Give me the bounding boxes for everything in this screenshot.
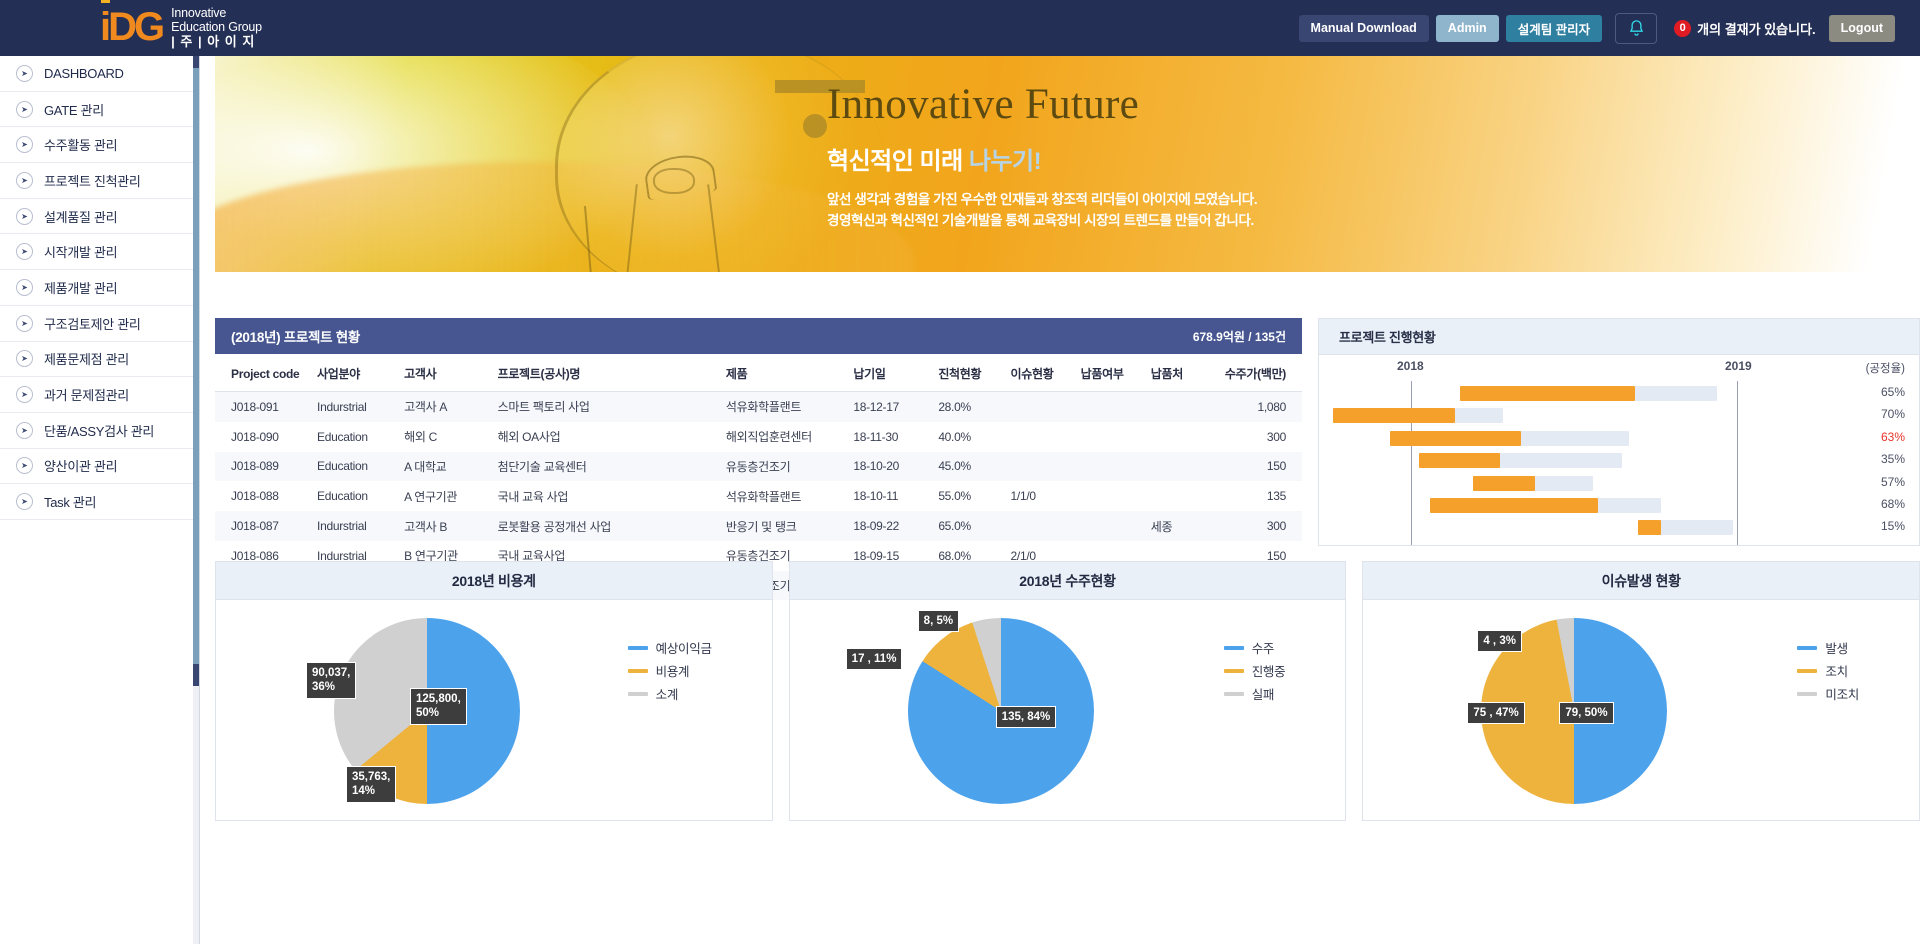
sidebar-item-9[interactable]: ➤과거 문제점관리: [0, 377, 199, 413]
legend-swatch-icon: [1224, 669, 1244, 673]
pie-chart-card-1: 2018년 수주현황135, 84%17 , 11%8, 5%수주진행중실패: [789, 561, 1347, 821]
sidebar-item-label: 시작개발 관리: [44, 242, 117, 261]
project-cell-delivered: [1075, 481, 1145, 511]
gantt-row: 57%: [1319, 473, 1919, 495]
sidebar-item-5[interactable]: ➤시작개발 관리: [0, 234, 199, 270]
project-column-header-1: 사업분야: [311, 354, 398, 392]
project-column-header-7: 이슈현황: [1005, 354, 1075, 392]
project-cell-issue: 1/1/0: [1005, 481, 1075, 511]
project-column-header-9: 납품처: [1145, 354, 1211, 392]
project-column-header-8: 납품여부: [1075, 354, 1145, 392]
chevron-right-icon: ➤: [16, 65, 33, 82]
pie-chart-header: 2018년 수주현황: [790, 562, 1346, 600]
gantt-panel-title: 프로젝트 진행현황: [1339, 327, 1436, 346]
chevron-right-icon: ➤: [16, 172, 33, 189]
header-actions: Manual Download Admin 설계팀 관리자 0 개의 결재가 있…: [1299, 13, 1895, 44]
manual-download-button[interactable]: Manual Download: [1299, 15, 1429, 42]
sidebar-item-6[interactable]: ➤제품개발 관리: [0, 270, 199, 306]
legend-label: 실패: [1252, 684, 1274, 703]
project-column-header-6: 진척현황: [932, 354, 1004, 392]
banner-cap-dot: [803, 114, 827, 138]
sidebar-item-10[interactable]: ➤단품/ASSY검사 관리: [0, 413, 199, 449]
table-row[interactable]: J018-090Education해외 C해외 OA사업해외직업훈련센터18-1…: [215, 422, 1302, 452]
project-panel-header: (2018년) 프로젝트 현황 678.9억원 / 135건: [215, 318, 1302, 354]
project-cell-dest: [1145, 392, 1211, 422]
legend-swatch-icon: [1224, 692, 1244, 696]
table-row[interactable]: J018-089EducationA 대학교첨단기술 교육센터유동층건조기18-…: [215, 452, 1302, 482]
table-row[interactable]: J018-087Indurstrial고객사 B로봇활용 공정개선 사업반응기 …: [215, 511, 1302, 541]
project-panel-summary: 678.9억원 / 135건: [1193, 328, 1286, 345]
chevron-right-icon: ➤: [16, 493, 33, 510]
chevron-right-icon: ➤: [16, 422, 33, 439]
pie-chart-body: 135, 84%17 , 11%8, 5%수주진행중실패: [790, 600, 1346, 820]
chevron-right-icon: ➤: [16, 457, 33, 474]
banner-description: 앞선 생각과 경험을 가진 우수한 인재들과 창조적 리더들이 아이지에 모였습…: [827, 190, 1257, 232]
gantt-row: 65%: [1319, 383, 1919, 405]
logo-line-1: Innovative: [171, 6, 262, 20]
chevron-right-icon: ➤: [16, 243, 33, 260]
gantt-progress-fill: [1460, 386, 1635, 401]
project-cell-price: 300: [1211, 422, 1302, 452]
notification-summary: 0 개의 결재가 있습니다.: [1674, 19, 1815, 38]
gantt-progress-fill: [1390, 431, 1522, 446]
legend-item: 미조치: [1797, 684, 1859, 703]
pie-chart-card-2: 이슈발생 현황79, 50%75 , 47%4 , 3%발생조치미조치: [1362, 561, 1920, 821]
gantt-progress-fill: [1430, 498, 1598, 513]
legend-item: 조치: [1797, 661, 1859, 680]
notification-message: 개의 결재가 있습니다.: [1697, 19, 1815, 38]
logo-line-3: | 주 | 아 이 지: [171, 35, 262, 50]
project-cell-product: 석유화학플랜트: [720, 481, 847, 511]
legend-swatch-icon: [628, 692, 648, 696]
sidebar-item-label: 과거 문제점관리: [44, 385, 129, 404]
project-cell-delivered: [1075, 392, 1145, 422]
project-cell-issue: [1005, 392, 1075, 422]
project-cell-progress: 40.0%: [932, 422, 1004, 452]
project-cell-price: 135: [1211, 481, 1302, 511]
table-row[interactable]: J018-088EducationA 연구기관국내 교육 사업석유화학플랜트18…: [215, 481, 1302, 511]
legend-label: 발생: [1825, 638, 1847, 657]
brand-logo[interactable]: iDG Innovative Education Group | 주 | 아 이…: [100, 0, 262, 56]
gantt-axis-tick-2018: 2018: [1397, 359, 1424, 373]
sidebar-scrollbar-track[interactable]: [193, 56, 199, 944]
project-cell-field: Education: [311, 422, 398, 452]
gantt-progress-fill: [1638, 520, 1661, 535]
sidebar-item-8[interactable]: ➤제품문제점 관리: [0, 342, 199, 378]
gantt-panel-header: 프로젝트 진행현황: [1319, 319, 1919, 355]
pie-legend: 발생조치미조치: [1797, 638, 1859, 703]
project-cell-project: 스마트 팩토리 사업: [492, 392, 720, 422]
sidebar-item-label: 제품개발 관리: [44, 278, 117, 297]
gantt-axis-tick-2019: 2019: [1725, 359, 1752, 373]
project-status-panel: (2018년) 프로젝트 현황 678.9억원 / 135건 Project c…: [215, 318, 1302, 546]
sidebar-item-label: DASHBOARD: [44, 66, 124, 81]
gantt-progress-label: 63%: [1881, 430, 1905, 444]
legend-item: 비용계: [628, 661, 712, 680]
project-cell-due: 18-11-30: [847, 422, 932, 452]
gantt-progress-label: 70%: [1881, 407, 1905, 421]
project-cell-code: J018-091: [215, 392, 311, 422]
chevron-right-icon: ➤: [16, 386, 33, 403]
logo-letter-i: i: [100, 5, 108, 49]
project-column-header-4: 제품: [720, 354, 847, 392]
sidebar-item-11[interactable]: ➤양산이관 관리: [0, 449, 199, 485]
sidebar-nav: ➤DASHBOARD➤GATE 관리➤수주활동 관리➤프로젝트 진척관리➤설계품…: [0, 56, 200, 944]
pie-slice-label: 125,800, 50%: [410, 688, 467, 725]
legend-label: 수주: [1252, 638, 1274, 657]
legend-swatch-icon: [628, 669, 648, 673]
legend-item: 진행중: [1224, 661, 1286, 680]
project-cell-code: J018-088: [215, 481, 311, 511]
legend-label: 조치: [1825, 661, 1847, 680]
project-cell-code: J018-089: [215, 452, 311, 482]
pie-legend: 수주진행중실패: [1224, 638, 1286, 703]
gantt-row: 68%: [1319, 495, 1919, 517]
project-column-header-10: 수주가(백만): [1211, 354, 1302, 392]
gantt-unit-label: (공정율): [1866, 360, 1905, 376]
pie-wrap: 79, 50%75 , 47%4 , 3%: [1481, 618, 1667, 804]
chevron-right-icon: ➤: [16, 350, 33, 367]
project-cell-issue: [1005, 452, 1075, 482]
project-cell-project: 로봇활용 공정개선 사업: [492, 511, 720, 541]
gantt-row: 15%: [1319, 517, 1919, 539]
project-cell-project: 국내 교육 사업: [492, 481, 720, 511]
project-cell-price: 300: [1211, 511, 1302, 541]
sidebar-item-label: 단품/ASSY검사 관리: [44, 421, 154, 440]
sidebar-item-7[interactable]: ➤구조검토제안 관리: [0, 306, 199, 342]
project-cell-dest: [1145, 422, 1211, 452]
project-cell-customer: A 연구기관: [398, 481, 491, 511]
legend-swatch-icon: [1797, 669, 1817, 673]
project-column-header-2: 고객사: [398, 354, 491, 392]
pie-slice-label: 79, 50%: [1559, 702, 1613, 724]
pie-wrap: 135, 84%17 , 11%8, 5%: [908, 618, 1094, 804]
legend-label: 예상이익금: [656, 638, 712, 657]
dashboard-row-charts: 2018년 비용계125,800, 50%35,763, 14%90,037, …: [215, 561, 1920, 821]
banner-title: Innovative Future: [827, 80, 1257, 129]
project-cell-customer: 해외 C: [398, 422, 491, 452]
legend-item: 실패: [1224, 684, 1286, 703]
project-cell-delivered: [1075, 511, 1145, 541]
legend-swatch-icon: [1797, 646, 1817, 650]
bell-icon: [1627, 18, 1646, 38]
pie-chart-title: 이슈발생 현황: [1602, 571, 1681, 591]
pie-slice-label: 90,037, 36%: [306, 662, 356, 699]
project-cell-field: Education: [311, 481, 398, 511]
sidebar-item-3[interactable]: ➤프로젝트 진척관리: [0, 163, 199, 199]
project-cell-field: Education: [311, 452, 398, 482]
project-cell-project: 첨단기술 교육센터: [492, 452, 720, 482]
project-cell-customer: A 대학교: [398, 452, 491, 482]
sidebar-item-label: GATE 관리: [44, 100, 104, 119]
chevron-right-icon: ➤: [16, 315, 33, 332]
chevron-right-icon: ➤: [16, 136, 33, 153]
project-cell-due: 18-10-11: [847, 481, 932, 511]
project-cell-progress: 45.0%: [932, 452, 1004, 482]
project-cell-code: J018-087: [215, 511, 311, 541]
project-cell-dest: [1145, 452, 1211, 482]
design-team-manager-button[interactable]: 설계팀 관리자: [1506, 15, 1602, 42]
project-cell-product: 반응기 및 탱크: [720, 511, 847, 541]
project-cell-product: 해외직업훈련센터: [720, 422, 847, 452]
project-cell-due: 18-09-22: [847, 511, 932, 541]
project-cell-field: Indurstrial: [311, 511, 398, 541]
project-table-header-row: Project code사업분야고객사프로젝트(공사)명제품납기일진척현황이슈현…: [215, 354, 1302, 392]
project-cell-project: 해외 OA사업: [492, 422, 720, 452]
banner-subtitle: 혁신적인 미래 나누기!: [827, 141, 1257, 176]
pie-chart-body: 79, 50%75 , 47%4 , 3%발생조치미조치: [1363, 600, 1919, 820]
sidebar-item-list: ➤DASHBOARD➤GATE 관리➤수주활동 관리➤프로젝트 진척관리➤설계품…: [0, 56, 199, 520]
project-cell-issue: [1005, 511, 1075, 541]
table-row[interactable]: J018-091Indurstrial고객사 A스마트 팩토리 사업석유화학플랜…: [215, 392, 1302, 422]
pie-chart-body: 125,800, 50%35,763, 14%90,037, 36%예상이익금비…: [216, 600, 772, 820]
banner-subtitle-main: 혁신적인 미래: [827, 148, 969, 175]
notification-bell-button[interactable]: [1615, 13, 1657, 44]
pie-slice-label: 4 , 3%: [1477, 630, 1522, 652]
project-table-head: Project code사업분야고객사프로젝트(공사)명제품납기일진척현황이슈현…: [215, 354, 1302, 392]
legend-label: 진행중: [1252, 661, 1286, 680]
lightbulb-filament-inner: [653, 168, 695, 194]
project-cell-customer: 고객사 B: [398, 511, 491, 541]
sidebar-item-label: 설계품질 관리: [44, 207, 117, 226]
legend-label: 미조치: [1825, 684, 1859, 703]
sidebar-item-1[interactable]: ➤GATE 관리: [0, 92, 199, 128]
legend-swatch-icon: [628, 646, 648, 650]
pie-chart-header: 2018년 비용계: [216, 562, 772, 600]
sidebar-item-2[interactable]: ➤수주활동 관리: [0, 127, 199, 163]
project-column-header-0: Project code: [215, 354, 311, 392]
project-column-header-5: 납기일: [847, 354, 932, 392]
sidebar-item-label: 제품문제점 관리: [44, 349, 129, 368]
project-cell-dest: 세종: [1145, 511, 1211, 541]
project-cell-due: 18-10-20: [847, 452, 932, 482]
project-cell-customer: 고객사 A: [398, 392, 491, 422]
notification-count-badge: 0: [1674, 20, 1691, 37]
dashboard-row-top: (2018년) 프로젝트 현황 678.9억원 / 135건 Project c…: [215, 318, 1920, 546]
pie-legend: 예상이익금비용계소계: [628, 638, 712, 703]
sidebar-item-label: 수주활동 관리: [44, 135, 117, 154]
banner-subtitle-highlight: 나누기!: [969, 148, 1041, 175]
pie-slice-label: 17 , 11%: [846, 648, 903, 670]
hero-banner: Innovative Future 혁신적인 미래 나누기! 앞선 생각과 경험…: [215, 56, 1920, 272]
project-cell-issue: [1005, 422, 1075, 452]
legend-label: 소계: [656, 684, 678, 703]
legend-item: 예상이익금: [628, 638, 712, 657]
project-cell-field: Indurstrial: [311, 392, 398, 422]
top-header: iDG Innovative Education Group | 주 | 아 이…: [0, 0, 1920, 56]
gantt-chart: 2018 2019 (공정율) 65%70%63%35%57%68%15%: [1319, 355, 1919, 545]
gantt-row: 70%: [1319, 405, 1919, 427]
chevron-right-icon: ➤: [16, 208, 33, 225]
banner-desc-line-2: 경영혁신과 혁신적인 기술개발을 통해 교육장비 시장의 트렌드를 만들어 갑니…: [827, 211, 1257, 232]
project-cell-code: J018-090: [215, 422, 311, 452]
pie-wrap: 125,800, 50%35,763, 14%90,037, 36%: [334, 618, 520, 804]
pie-slice-label: 35,763, 14%: [346, 766, 396, 803]
pie-chart-title: 2018년 비용계: [452, 571, 536, 591]
project-cell-dest: [1145, 481, 1211, 511]
chevron-right-icon: ➤: [16, 279, 33, 296]
gantt-progress-label: 57%: [1881, 475, 1905, 489]
gantt-progress-label: 65%: [1881, 385, 1905, 399]
pie-slice-label: 75 , 47%: [1467, 702, 1524, 724]
main-content: Innovative Future 혁신적인 미래 나누기! 앞선 생각과 경험…: [200, 56, 1920, 944]
project-panel-title: (2018년) 프로젝트 현황: [231, 326, 360, 346]
sidebar-item-label: 프로젝트 진척관리: [44, 171, 141, 190]
gantt-panel: 프로젝트 진행현황 2018 2019 (공정율) 65%70%63%35%57…: [1318, 318, 1920, 546]
gantt-progress-fill: [1333, 408, 1455, 423]
gantt-progress-label: 68%: [1881, 497, 1905, 511]
logout-button[interactable]: Logout: [1829, 15, 1895, 42]
banner-text-block: Innovative Future 혁신적인 미래 나누기! 앞선 생각과 경험…: [827, 80, 1257, 232]
logo-wordmark: Innovative Education Group | 주 | 아 이 지: [171, 6, 262, 50]
project-cell-due: 18-12-17: [847, 392, 932, 422]
sidebar-item-0[interactable]: ➤DASHBOARD: [0, 56, 199, 92]
project-cell-product: 유동층건조기: [720, 452, 847, 482]
gantt-progress-fill: [1419, 453, 1500, 468]
project-cell-product: 석유화학플랜트: [720, 392, 847, 422]
sidebar-item-label: 양산이관 관리: [44, 456, 117, 475]
legend-swatch-icon: [1224, 646, 1244, 650]
pie-chart-title: 2018년 수주현황: [1019, 571, 1115, 591]
logo-line-2: Education Group: [171, 20, 262, 34]
legend-swatch-icon: [1797, 692, 1817, 696]
pie-chart-card-0: 2018년 비용계125,800, 50%35,763, 14%90,037, …: [215, 561, 773, 821]
gantt-progress-label: 15%: [1881, 519, 1905, 533]
legend-item: 발생: [1797, 638, 1859, 657]
sidebar-item-label: Task 관리: [44, 492, 96, 511]
project-cell-price: 150: [1211, 452, 1302, 482]
project-cell-delivered: [1075, 452, 1145, 482]
pie-slice-label: 135, 84%: [996, 706, 1057, 728]
project-cell-progress: 55.0%: [932, 481, 1004, 511]
chevron-right-icon: ➤: [16, 101, 33, 118]
logo-mark: iDG: [100, 7, 162, 47]
pie-slice-label: 8, 5%: [918, 610, 959, 632]
logo-letters-dg: DG: [108, 5, 162, 49]
project-cell-delivered: [1075, 422, 1145, 452]
project-column-header-3: 프로젝트(공사)명: [492, 354, 720, 392]
gantt-row: 35%: [1319, 450, 1919, 472]
admin-button[interactable]: Admin: [1436, 15, 1499, 42]
gantt-row-list: 65%70%63%35%57%68%15%: [1319, 383, 1919, 540]
project-cell-price: 1,080: [1211, 392, 1302, 422]
gantt-progress-label: 35%: [1881, 452, 1905, 466]
project-cell-progress: 65.0%: [932, 511, 1004, 541]
sidebar-item-label: 구조검토제안 관리: [44, 314, 141, 333]
gantt-progress-fill: [1473, 476, 1535, 491]
pie-chart-header: 이슈발생 현황: [1363, 562, 1919, 600]
sidebar-item-12[interactable]: ➤Task 관리: [0, 484, 199, 520]
gantt-row: 63%: [1319, 428, 1919, 450]
sidebar-item-4[interactable]: ➤설계품질 관리: [0, 199, 199, 235]
legend-item: 수주: [1224, 638, 1286, 657]
sidebar-scrollbar-thumb[interactable]: [193, 56, 199, 664]
legend-item: 소계: [628, 684, 712, 703]
project-cell-progress: 28.0%: [932, 392, 1004, 422]
legend-label: 비용계: [656, 661, 690, 680]
banner-desc-line-1: 앞선 생각과 경험을 가진 우수한 인재들과 창조적 리더들이 아이지에 모였습…: [827, 190, 1257, 211]
